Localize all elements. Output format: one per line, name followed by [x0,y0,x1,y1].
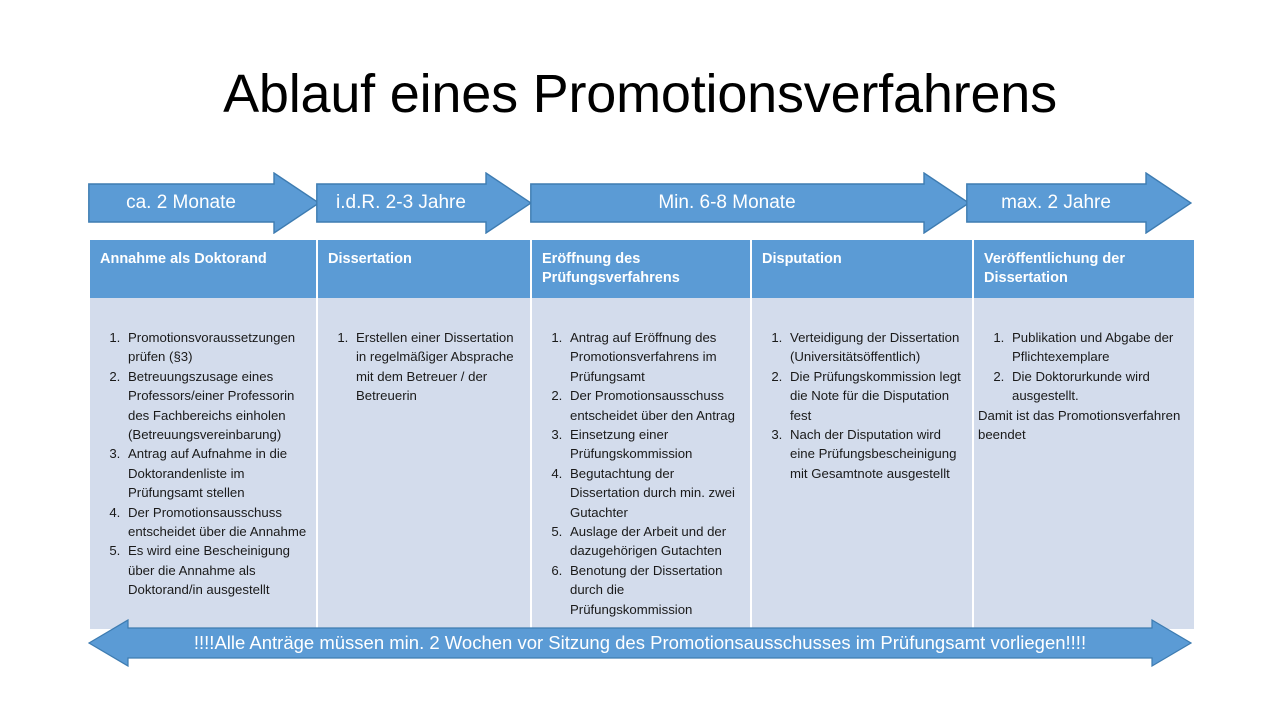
list-item: Begutachtung der Dissertation durch min.… [566,464,744,522]
list-item: Erstellen einer Dissertation in regelmäß… [352,328,524,406]
list-item: Die Doktorurkunde wird ausgestellt. [1008,367,1188,406]
step-list-eroeffnung: Antrag auf Eröffnung des Promotionsverfa… [536,328,744,619]
list-item: Einsetzung einer Prüfungskommission [566,425,744,464]
timeline-arrow-2 [316,172,532,234]
list-item: Der Promotionsausschuss entscheidet über… [566,386,744,425]
timeline-arrow-row: ca. 2 Monate i.d.R. 2-3 Jahre Min. 6-8 M… [88,172,1192,234]
list-item: Antrag auf Eröffnung des Promotionsverfa… [566,328,744,386]
column-header-dissertation: Dissertation [318,240,530,298]
list-item: Publikation und Abgabe der Pflichtexempl… [1008,328,1188,367]
list-item: Verteidigung der Dissertation (Universit… [786,328,966,367]
column-header-veroeffentlichung: Veröffentlichung der Dissertation [974,240,1194,298]
table-cell-veroeffentlichung: Publikation und Abgabe der Pflichtexempl… [974,320,1194,629]
double-arrow-shape [88,619,1192,667]
list-item: Auslage der Arbeit und der dazugehörigen… [566,522,744,561]
timeline-arrow-4 [966,172,1192,234]
list-item: Die Prüfungskommission legt die Note für… [786,367,966,425]
note-veroeffentlichung: Damit ist das Promotionsverfahren beende… [978,406,1188,445]
table-cell-disputation: Verteidigung der Dissertation (Universit… [752,320,972,629]
timeline-arrow-1 [88,172,320,234]
table-row: Promotionsvoraussetzungen prüfen (§3)Bet… [90,320,1194,629]
list-item: Der Promotionsausschuss entscheidet über… [124,503,310,542]
process-table: Annahme als Doktorand Dissertation Eröff… [88,240,1192,629]
step-list-veroeffentlichung: Publikation und Abgabe der Pflichtexempl… [978,328,1188,406]
column-header-disputation: Disputation [752,240,972,298]
step-list-disputation: Verteidigung der Dissertation (Universit… [756,328,966,483]
list-item: Es wird eine Bescheinigung über die Anna… [124,541,310,599]
column-header-annahme: Annahme als Doktorand [90,240,316,298]
list-item: Betreuungszusage eines Professors/einer … [124,367,310,445]
step-list-dissertation: Erstellen einer Dissertation in regelmäß… [322,328,524,406]
list-item: Antrag auf Aufnahme in die Doktorandenli… [124,444,310,502]
list-item: Benotung der Dissertation durch die Prüf… [566,561,744,619]
table-cell-annahme: Promotionsvoraussetzungen prüfen (§3)Bet… [90,320,316,629]
list-item: Nach der Disputation wird eine Prüfungsb… [786,425,966,483]
header-body-gap [90,298,1194,320]
column-header-eroeffnung: Eröffnung des Prüfungsverfahrens [532,240,750,298]
page-title: Ablauf eines Promotionsverfahrens [0,62,1280,126]
table-cell-eroeffnung: Antrag auf Eröffnung des Promotionsverfa… [532,320,750,629]
deadline-banner: !!!!Alle Anträge müssen min. 2 Wochen vo… [88,619,1192,667]
step-list-annahme: Promotionsvoraussetzungen prüfen (§3)Bet… [94,328,310,600]
table-header-row: Annahme als Doktorand Dissertation Eröff… [90,240,1194,298]
timeline-arrow-3 [530,172,970,234]
list-item: Promotionsvoraussetzungen prüfen (§3) [124,328,310,367]
table-cell-dissertation: Erstellen einer Dissertation in regelmäß… [318,320,530,629]
